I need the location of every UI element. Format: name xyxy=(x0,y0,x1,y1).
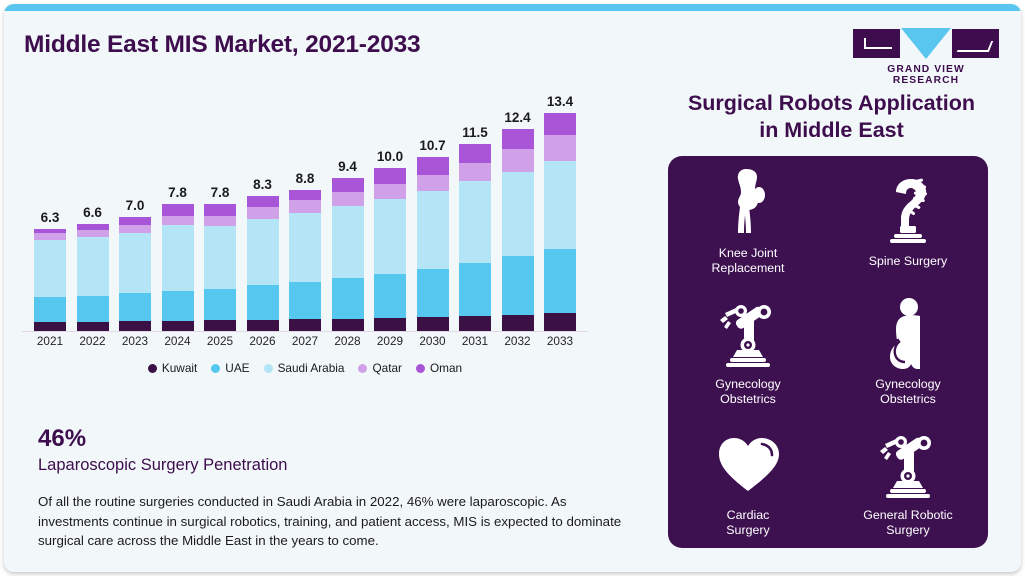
bar-column: 8.8 xyxy=(289,92,321,331)
x-axis-tick: 2021 xyxy=(34,334,66,348)
logo-wordmark: GRAND VIEW RESEARCH xyxy=(853,64,999,86)
bar-segment-qatar xyxy=(247,207,279,219)
legend-swatch-icon xyxy=(264,364,273,373)
bar-segment-kuwait xyxy=(374,318,406,331)
application-label: GynecologyObstetrics xyxy=(875,377,940,407)
legend-label: Saudi Arabia xyxy=(278,361,345,375)
bar-segment-qatar xyxy=(417,175,449,191)
bar-value-label: 7.8 xyxy=(211,185,230,200)
bar-segment-oman xyxy=(374,168,406,184)
bar-segment-kuwait xyxy=(289,319,321,331)
bar-stack xyxy=(374,168,406,331)
infographic-card: Middle East MIS Market, 2021-2033 GRAND … xyxy=(4,4,1021,572)
bar-segment-oman xyxy=(289,190,321,200)
application-label: CardiacSurgery xyxy=(726,508,769,538)
bar-stack xyxy=(204,204,236,331)
application-cell[interactable]: General RoboticSurgery xyxy=(828,417,988,548)
bar-value-label: 6.6 xyxy=(83,205,102,220)
logo-rect-left-icon xyxy=(853,29,900,58)
x-axis-tick: 2031 xyxy=(459,334,491,348)
bar-segment-kuwait xyxy=(77,322,109,331)
bar-segment-saudi-arabia xyxy=(204,226,236,289)
bar-stack xyxy=(34,229,66,331)
bar-segment-oman xyxy=(459,144,491,164)
bar-segment-saudi-arabia xyxy=(502,172,534,257)
legend-item-kuwait[interactable]: Kuwait xyxy=(148,361,197,375)
x-axis-tick: 2028 xyxy=(332,334,364,348)
bar-column: 9.4 xyxy=(332,92,364,331)
bar-value-label: 10.7 xyxy=(419,138,445,153)
bar-segment-oman xyxy=(502,129,534,149)
bar-segment-oman xyxy=(332,178,364,192)
bar-segment-uae xyxy=(502,256,534,315)
bar-column: 7.8 xyxy=(162,92,194,331)
bar-value-label: 10.0 xyxy=(377,149,403,164)
bar-segment-saudi-arabia xyxy=(459,181,491,262)
robot-arm-icon xyxy=(877,428,939,500)
bar-stack xyxy=(77,224,109,331)
bar-segment-qatar xyxy=(204,216,236,226)
bar-segment-uae xyxy=(289,282,321,320)
application-cell[interactable]: GynecologyObstetrics xyxy=(668,287,828,418)
page-title: Middle East MIS Market, 2021-2033 xyxy=(24,31,420,59)
bar-segment-uae xyxy=(119,293,151,321)
bar-segment-saudi-arabia xyxy=(332,206,364,278)
x-axis-tick: 2027 xyxy=(289,334,321,348)
logo-rect-right-icon xyxy=(952,29,999,58)
x-axis-tick: 2022 xyxy=(77,334,109,348)
bar-segment-qatar xyxy=(289,200,321,213)
bar-value-label: 6.3 xyxy=(41,210,60,225)
bar-segment-qatar xyxy=(374,184,406,199)
bar-segment-qatar xyxy=(502,149,534,172)
bar-column: 7.8 xyxy=(204,92,236,331)
bar-column: 11.5 xyxy=(459,92,491,331)
bar-stack xyxy=(332,178,364,331)
bar-segment-saudi-arabia xyxy=(417,191,449,269)
logo-triangle-icon xyxy=(901,28,951,59)
bar-segment-kuwait xyxy=(502,315,534,331)
bar-segment-uae xyxy=(544,249,576,313)
surgical-robots-application-panel: Knee JointReplacement Spine Surgery xyxy=(668,156,988,548)
legend-item-qatar[interactable]: Qatar xyxy=(358,361,402,375)
bar-column: 12.4 xyxy=(502,92,534,331)
legend-swatch-icon xyxy=(416,364,425,373)
bar-value-label: 11.5 xyxy=(462,125,488,140)
bar-segment-uae xyxy=(247,285,279,320)
x-axis-tick: 2032 xyxy=(502,334,534,348)
bar-segment-qatar xyxy=(544,135,576,161)
application-label: GynecologyObstetrics xyxy=(715,377,780,407)
legend-item-oman[interactable]: Oman xyxy=(416,361,462,375)
bar-value-label: 7.0 xyxy=(126,198,145,213)
bar-segment-uae xyxy=(34,297,66,322)
bar-segment-kuwait xyxy=(204,320,236,331)
legend-label: Kuwait xyxy=(162,361,197,375)
application-label: Spine Surgery xyxy=(869,254,948,269)
bar-segment-saudi-arabia xyxy=(289,213,321,282)
bar-segment-kuwait xyxy=(544,313,576,331)
bar-segment-kuwait xyxy=(162,321,194,331)
legend-label: Qatar xyxy=(372,361,402,375)
bar-segment-qatar xyxy=(77,230,109,237)
bar-segment-oman xyxy=(544,113,576,134)
bar-segment-oman xyxy=(247,196,279,207)
brand-logo: GRAND VIEW RESEARCH xyxy=(853,28,999,86)
bar-segment-kuwait xyxy=(247,320,279,331)
bar-segment-saudi-arabia xyxy=(544,161,576,249)
stat-body-text: Of all the routine surgeries conducted i… xyxy=(38,492,623,551)
application-cell[interactable]: CardiacSurgery xyxy=(668,417,828,548)
legend-swatch-icon xyxy=(148,364,157,373)
application-label: General RoboticSurgery xyxy=(863,508,953,538)
bar-segment-oman xyxy=(417,157,449,175)
bar-segment-oman xyxy=(119,217,151,225)
application-cell[interactable]: Spine Surgery xyxy=(828,156,988,287)
bar-segment-saudi-arabia xyxy=(119,233,151,294)
bar-segment-uae xyxy=(162,291,194,321)
bar-stack xyxy=(502,129,534,331)
logo-marks xyxy=(853,28,999,58)
bar-segment-uae xyxy=(77,296,109,322)
heart-icon xyxy=(717,428,779,500)
bar-segment-kuwait xyxy=(34,322,66,331)
application-cell[interactable]: Knee JointReplacement xyxy=(668,156,828,287)
bar-segment-uae xyxy=(332,278,364,319)
bar-segment-qatar xyxy=(459,163,491,181)
stat-subtitle: Laparoscopic Surgery Penetration xyxy=(38,456,287,475)
bar-segment-uae xyxy=(417,269,449,317)
x-axis-tick: 2029 xyxy=(374,334,406,348)
x-axis-tick: 2025 xyxy=(204,334,236,348)
bar-segment-kuwait xyxy=(417,317,449,331)
bar-segment-qatar xyxy=(162,216,194,225)
legend-item-saudi-arabia[interactable]: Saudi Arabia xyxy=(264,361,345,375)
bar-segment-qatar xyxy=(332,192,364,206)
x-axis-tick: 2030 xyxy=(417,334,449,348)
bar-segment-saudi-arabia xyxy=(162,225,194,290)
bar-value-label: 8.8 xyxy=(296,171,315,186)
bar-segment-uae xyxy=(374,274,406,318)
bar-segment-saudi-arabia xyxy=(77,237,109,296)
robot-arm-icon xyxy=(717,297,779,369)
bar-segment-uae xyxy=(459,263,491,316)
chart-legend: KuwaitUAESaudi ArabiaQatarOman xyxy=(22,361,588,375)
stacked-bar-chart: 6.36.67.07.87.88.38.89.410.010.711.512.4… xyxy=(22,92,588,332)
legend-item-uae[interactable]: UAE xyxy=(211,361,249,375)
bar-stack xyxy=(544,113,576,331)
bar-segment-oman xyxy=(162,204,194,216)
bar-value-label: 12.4 xyxy=(504,110,530,125)
bar-value-label: 8.3 xyxy=(253,177,272,192)
bar-segment-kuwait xyxy=(119,321,151,331)
bar-column: 10.7 xyxy=(417,92,449,331)
legend-swatch-icon xyxy=(358,364,367,373)
chart-plot-area: 6.36.67.07.87.88.38.89.410.010.711.512.4… xyxy=(22,92,588,332)
bar-column: 8.3 xyxy=(247,92,279,331)
panel-title: Surgical Robots Applicationin Middle Eas… xyxy=(644,90,1019,144)
bar-column: 6.6 xyxy=(77,92,109,331)
x-axis-tick: 2023 xyxy=(119,334,151,348)
bar-value-label: 9.4 xyxy=(338,159,357,174)
bar-column: 10.0 xyxy=(374,92,406,331)
application-label: Knee JointReplacement xyxy=(711,246,784,276)
pregnant-woman-icon xyxy=(883,297,933,369)
bar-column: 6.3 xyxy=(34,92,66,331)
bar-stack xyxy=(247,196,279,331)
bar-segment-kuwait xyxy=(332,319,364,331)
bar-stack xyxy=(162,204,194,331)
bar-segment-uae xyxy=(204,289,236,321)
bar-stack xyxy=(289,190,321,332)
bar-column: 7.0 xyxy=(119,92,151,331)
bar-stack xyxy=(119,217,151,331)
bar-segment-kuwait xyxy=(459,316,491,331)
accent-top-bar xyxy=(4,4,1021,11)
bar-value-label: 7.8 xyxy=(168,185,187,200)
stat-percent: 46% xyxy=(38,425,86,453)
bar-segment-qatar xyxy=(34,233,66,240)
x-axis-tick: 2033 xyxy=(544,334,576,348)
bar-segment-saudi-arabia xyxy=(374,199,406,274)
legend-label: UAE xyxy=(225,361,249,375)
bar-segment-saudi-arabia xyxy=(247,219,279,285)
x-axis-tick: 2024 xyxy=(162,334,194,348)
knee-joint-bone-icon xyxy=(726,166,770,238)
x-axis-tick: 2026 xyxy=(247,334,279,348)
bar-segment-qatar xyxy=(119,225,151,233)
chart-x-axis: 2021202220232024202520262027202820292030… xyxy=(22,334,588,348)
spine-vertebrae-icon xyxy=(880,174,936,246)
bar-column: 13.4 xyxy=(544,92,576,331)
bar-segment-saudi-arabia xyxy=(34,240,66,297)
bar-segment-oman xyxy=(204,204,236,216)
bar-value-label: 13.4 xyxy=(547,94,573,109)
application-cell[interactable]: GynecologyObstetrics xyxy=(828,287,988,418)
bar-stack xyxy=(417,157,449,331)
legend-swatch-icon xyxy=(211,364,220,373)
bar-stack xyxy=(459,144,491,331)
legend-label: Oman xyxy=(430,361,462,375)
